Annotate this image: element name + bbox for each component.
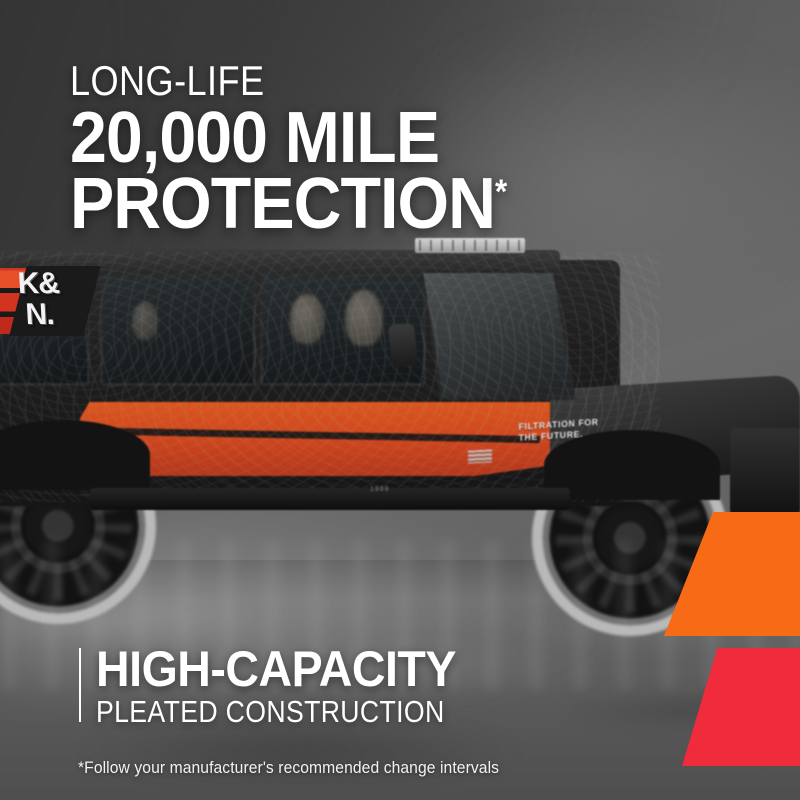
ad-copy-overlay: LONG-LIFE 20,000 MILE PROTECTION* HIGH-C… [0, 0, 800, 800]
vertical-divider [79, 648, 81, 722]
headline-line-2: PROTECTION* [70, 170, 506, 238]
subhead-main-text: HIGH-CAPACITY [96, 644, 456, 694]
headline-line-2-text: PROTECTION [70, 164, 495, 244]
footnote-text: *Follow your manufacturer's recommended … [78, 758, 499, 778]
advertisement-banner: FILTRATION FOR THE FUTURE. 1909 K& N. LO… [0, 0, 800, 800]
footnote-marker: * [495, 173, 506, 211]
subhead-secondary-text: PLEATED CONSTRUCTION [96, 696, 445, 728]
headline-line-1: 20,000 MILE [70, 104, 439, 172]
